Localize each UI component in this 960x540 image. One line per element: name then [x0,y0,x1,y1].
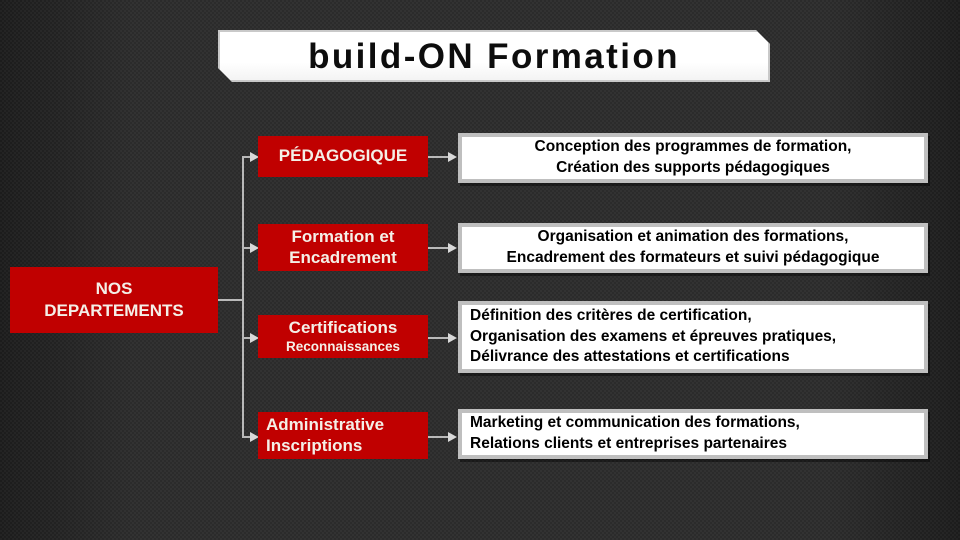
connector-row-4 [428,436,450,438]
arrowhead-row-4 [448,432,457,442]
category-label-line2: Encadrement [266,248,420,269]
description-box-2[interactable]: Organisation et animation des formations… [458,223,928,273]
description-line: Encadrement des formateurs et suivi péda… [507,248,880,269]
category-box-formation-encadrement[interactable]: Formation et Encadrement [258,224,428,271]
diagram-canvas: build-ON Formation NOS DEPARTEMENTS PÉDA… [0,0,960,540]
category-box-certifications[interactable]: Certifications Reconnaissances [258,315,428,358]
description-line: Marketing et communication des formation… [470,413,800,434]
category-box-administrative-inscriptions[interactable]: Administrative Inscriptions [258,412,428,459]
description-line: Définition des critères de certification… [470,306,752,327]
description-box-4[interactable]: Marketing et communication des formation… [458,409,928,459]
description-line: Création des supports pédagogiques [556,158,830,179]
category-label-line1: Administrative [266,415,420,436]
arrowhead-row-2 [448,243,457,253]
connector-row-1 [428,156,450,158]
connector-root-stem [218,299,244,301]
arrowhead-row-3 [448,333,457,343]
arrowhead-row-1 [448,152,457,162]
description-line: Conception des programmes de formation, [535,137,852,158]
category-label-line2: Inscriptions [266,436,420,457]
title-banner: build-ON Formation [218,30,770,82]
description-box-3[interactable]: Définition des critères de certification… [458,301,928,373]
category-label-line1: PÉDAGOGIQUE [266,146,420,167]
description-line: Organisation des examens et épreuves pra… [470,327,836,348]
category-label-line2: Reconnaissances [266,339,420,355]
description-line: Relations clients et entreprises partena… [470,434,787,455]
connector-trunk [242,157,244,437]
description-box-1[interactable]: Conception des programmes de formation, … [458,133,928,183]
page-title: build-ON Formation [308,39,680,74]
root-node-nos-departements[interactable]: NOS DEPARTEMENTS [10,267,218,333]
connector-row-2 [428,247,450,249]
description-line: Organisation et animation des formations… [538,227,849,248]
root-node-label-line2: DEPARTEMENTS [44,300,183,322]
connector-row-3 [428,337,450,339]
category-label-line1: Certifications [266,318,420,339]
category-box-pedagogique[interactable]: PÉDAGOGIQUE [258,136,428,177]
description-line: Délivrance des attestations et certifica… [470,347,790,368]
category-label-line1: Formation et [266,227,420,248]
root-node-label-line1: NOS [96,278,133,300]
